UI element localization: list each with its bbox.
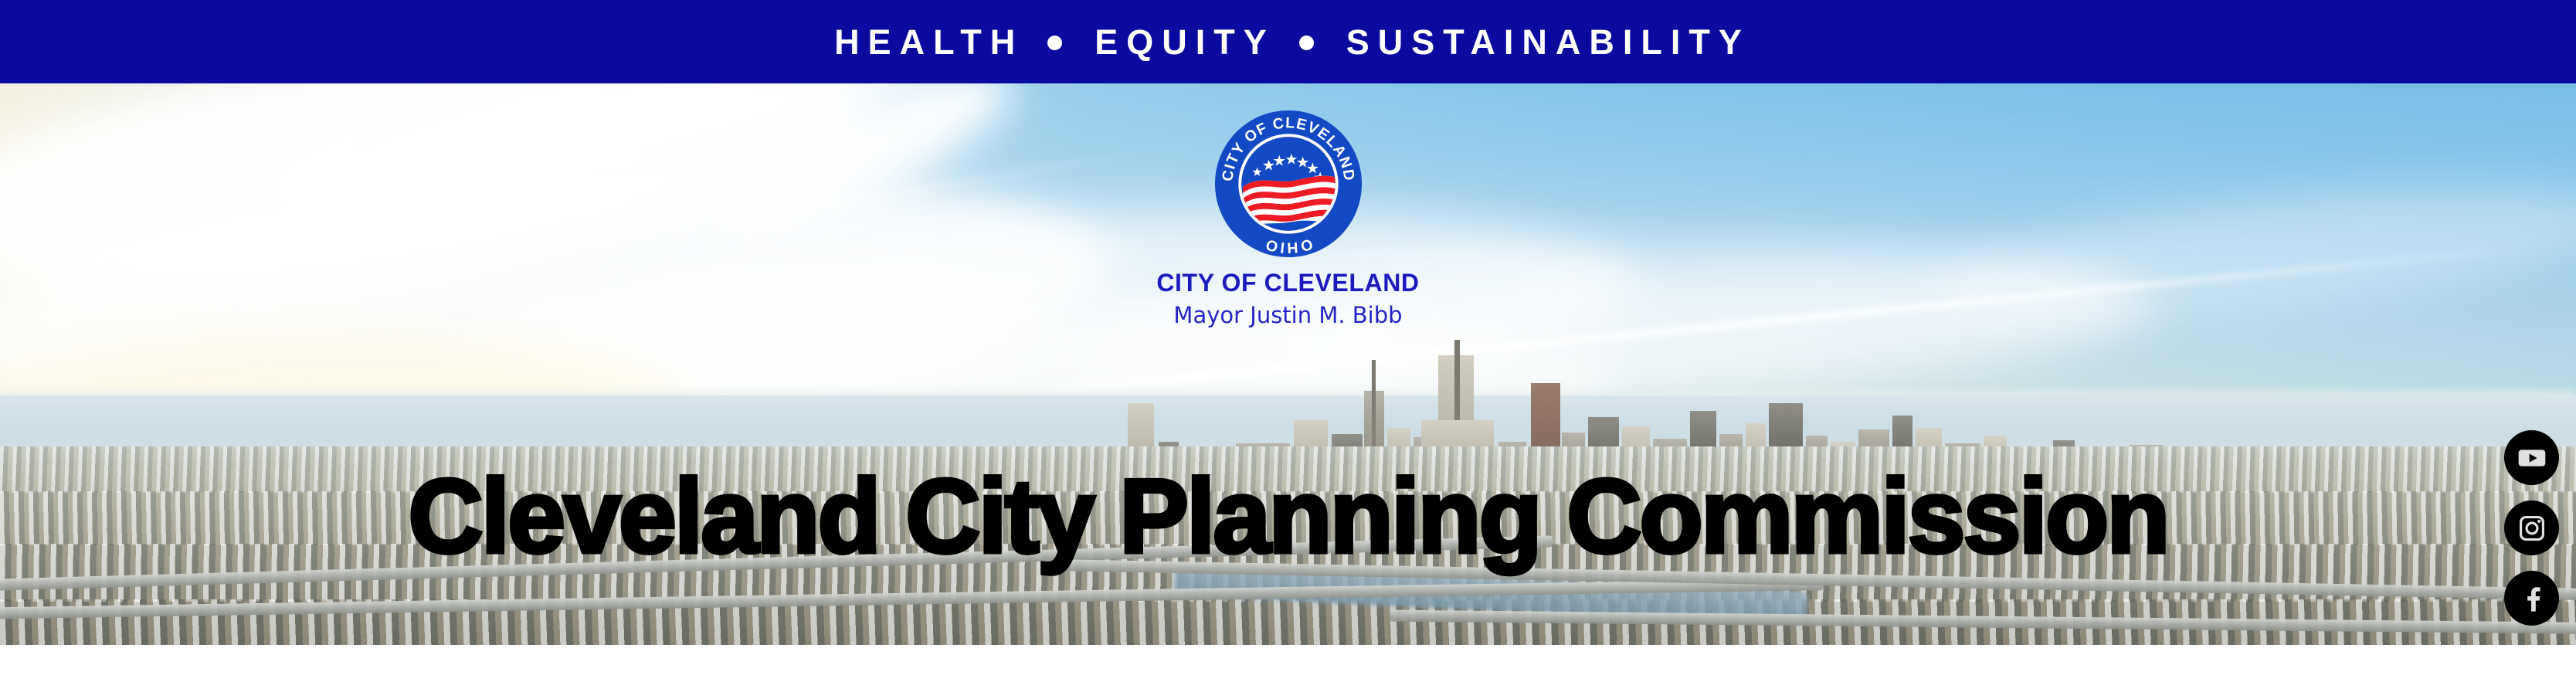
tagline-text: HEALTH EQUITY SUSTAINABILITY	[826, 25, 1750, 59]
tagline-separator-dot-1	[1047, 36, 1062, 50]
facebook-icon	[2517, 583, 2547, 614]
tagline-banner: HEALTH EQUITY SUSTAINABILITY	[0, 0, 2576, 83]
page-title: Cleveland City Planning Commission	[13, 463, 2564, 568]
org-name: CITY OF CLEVELAND	[1156, 270, 1419, 295]
mayor-name: Mayor Justin M. Bibb	[1173, 304, 1402, 327]
branding-block: CITY OF CLEVELAND OHIO CITY OF CLEVELAND…	[0, 83, 2576, 327]
instagram-icon	[2517, 513, 2547, 544]
tagline-word-equity: EQUITY	[1095, 25, 1275, 59]
social-links	[2504, 430, 2559, 626]
facebook-link[interactable]	[2504, 571, 2559, 626]
footer-white-strip	[0, 645, 2576, 682]
tagline-separator-dot-2	[1299, 36, 1314, 50]
page-root: HEALTH EQUITY SUSTAINABILITY	[0, 0, 2576, 682]
youtube-icon	[2517, 443, 2547, 473]
youtube-link[interactable]	[2504, 430, 2559, 485]
tagline-word-health: HEALTH	[834, 25, 1023, 59]
cleveland-city-seal-icon: CITY OF CLEVELAND OHIO	[1213, 108, 1364, 260]
instagram-link[interactable]	[2504, 500, 2559, 555]
tagline-word-sustainability: SUSTAINABILITY	[1346, 25, 1750, 59]
hero-photo: CITY OF CLEVELAND OHIO CITY OF CLEVELAND…	[0, 83, 2576, 645]
